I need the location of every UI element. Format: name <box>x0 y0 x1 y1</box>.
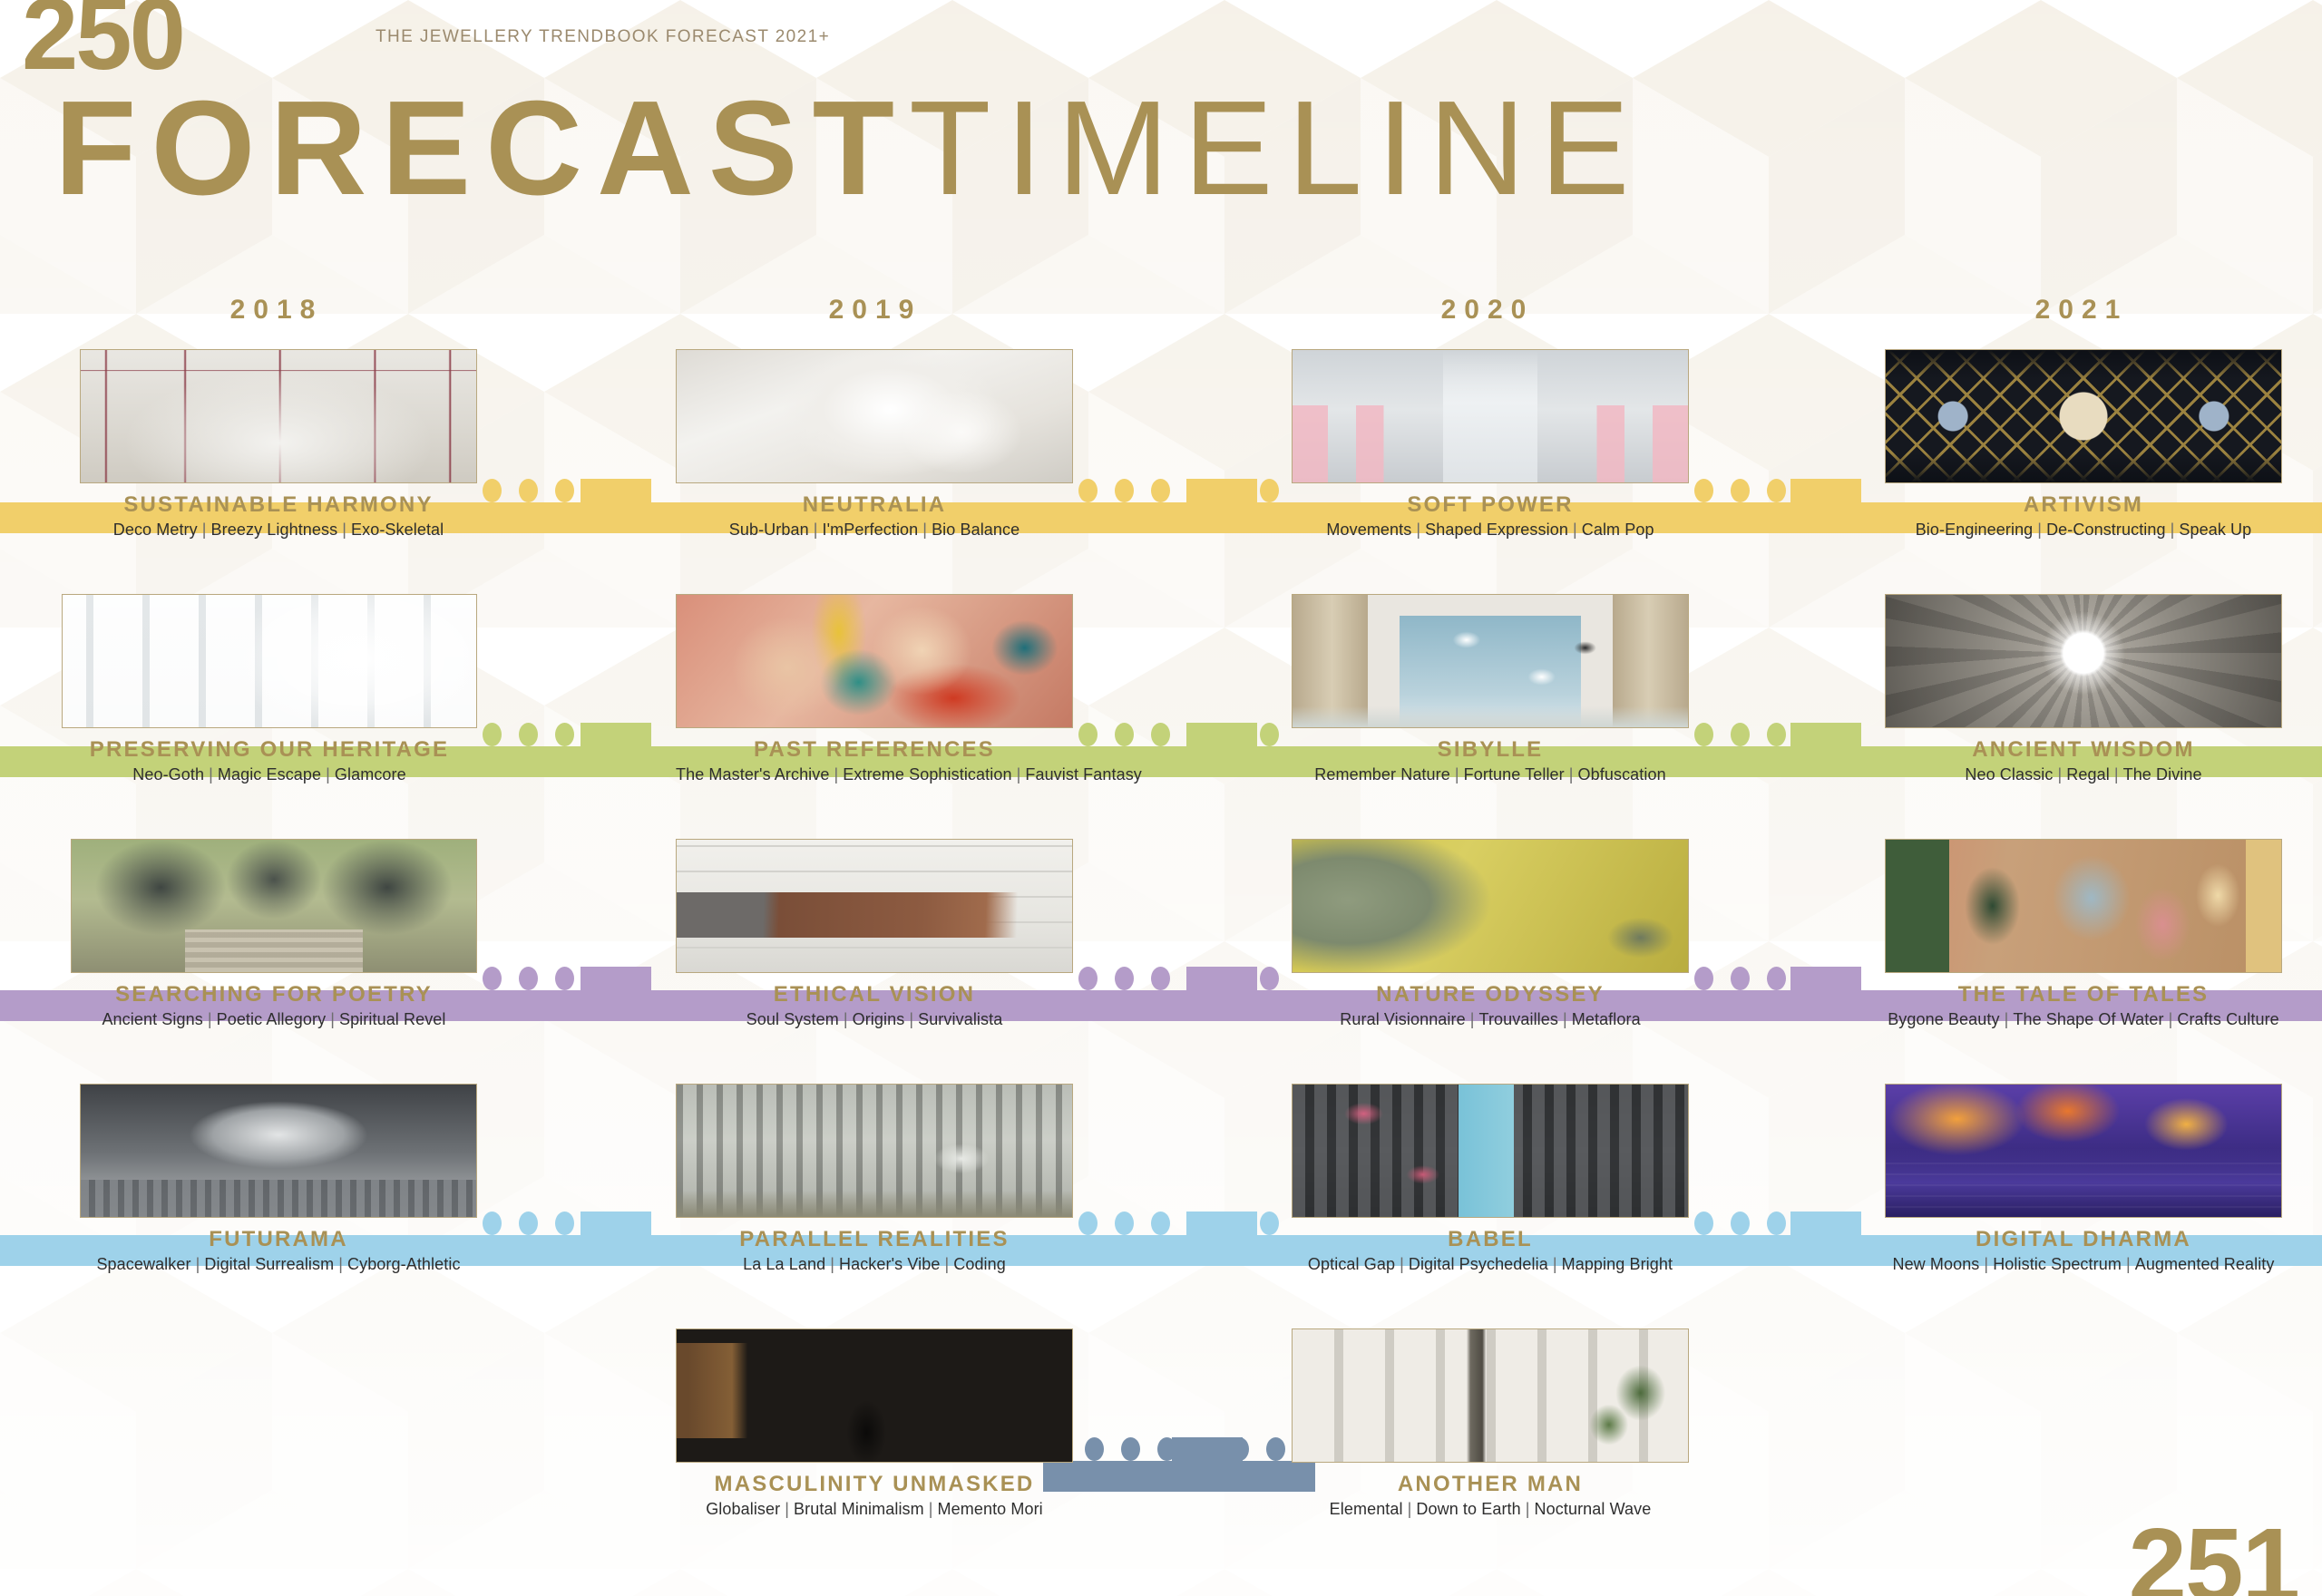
trend-keyword: The Divine <box>2123 765 2202 783</box>
timeline-dot <box>483 967 502 990</box>
page-title-bold: FORECAST <box>54 73 909 223</box>
connector-notch <box>580 479 651 502</box>
trend-keyword: The Master's Archive <box>676 765 830 783</box>
trend-title: PARALLEL REALITIES <box>676 1228 1073 1251</box>
keyword-separator: | <box>321 765 335 783</box>
trend-image-curtained-window-birds <box>1292 594 1689 728</box>
timeline-dot <box>1121 1437 1140 1461</box>
trend-title: THE TALE OF TALES <box>1885 983 2282 1006</box>
trend-keyword: Glamcore <box>335 765 406 783</box>
trend-keyword: Spiritual Revel <box>339 1010 446 1028</box>
connector-notch <box>1186 1212 1257 1235</box>
trend-keyword: The Shape Of Water <box>2013 1010 2163 1028</box>
trend-keyword: La La Land <box>743 1255 825 1273</box>
keyword-separator: | <box>2000 1010 2014 1028</box>
keyword-separator: | <box>940 1255 953 1273</box>
trend-keywords: Movements|Shaped Expression|Calm Pop <box>1292 521 1689 540</box>
trend-keyword: Calm Pop <box>1582 521 1654 539</box>
timeline-dot <box>1731 723 1750 746</box>
trend-title: BABEL <box>1292 1228 1689 1251</box>
connector-notch <box>1186 967 1257 990</box>
keyword-separator: | <box>1466 1010 1479 1028</box>
connector-notch <box>580 723 651 746</box>
trend-keyword: Mapping Bright <box>1562 1255 1673 1273</box>
trend-image-concrete-columns-with-plants <box>1292 1328 1689 1463</box>
keyword-separator: | <box>1012 765 1026 783</box>
trend-keyword: De-Constructing <box>2046 521 2166 539</box>
trend-card[interactable]: ARTIVISMBio-Engineering|De-Constructing|… <box>1885 349 2282 540</box>
trend-keyword: Elemental <box>1330 1500 1403 1518</box>
year-label-2021: 2021 <box>1946 295 2218 326</box>
timeline-dot <box>1694 967 1713 990</box>
keyword-separator: | <box>1450 765 1464 783</box>
trend-keyword: Ancient Signs <box>102 1010 202 1028</box>
trend-title: ARTIVISM <box>1885 493 2282 516</box>
trend-keyword: Trouvailles <box>1479 1010 1558 1028</box>
trend-keyword: Optical Gap <box>1308 1255 1395 1273</box>
keyword-separator: | <box>839 1010 853 1028</box>
trend-keyword: Memento Mori <box>938 1500 1043 1518</box>
trend-keyword: I'mPerfection <box>823 521 919 539</box>
trend-keyword: Down to Earth <box>1416 1500 1520 1518</box>
timeline-dot <box>555 1212 574 1235</box>
trend-keyword: Origins <box>853 1010 905 1028</box>
timeline-dot <box>1078 1212 1098 1235</box>
connector-dots-row-slate <box>0 1437 2322 1461</box>
page-header: 250 THE JEWELLERY TRENDBOOK FORECAST 202… <box>0 0 2322 272</box>
keyword-separator: | <box>204 765 218 783</box>
trend-keyword: Magic Escape <box>218 765 321 783</box>
keyword-separator: | <box>1568 521 1582 539</box>
connector-notch <box>1172 1437 1243 1461</box>
trend-image-bw-spacecraft-over-city <box>80 1084 477 1218</box>
trend-keywords: La La Land|Hacker's Vibe|Coding <box>676 1255 1073 1274</box>
trend-keyword: Globaliser <box>706 1500 780 1518</box>
trend-keywords: New Moons|Holistic Spectrum|Augmented Re… <box>1885 1255 2282 1274</box>
timeline-dot <box>1078 723 1098 746</box>
trend-title: SIBYLLE <box>1292 738 1689 761</box>
year-axis: 2018201920202021 <box>0 295 2322 338</box>
keyword-separator: | <box>1411 521 1425 539</box>
trend-card[interactable]: PARALLEL REALITIESLa La Land|Hacker's Vi… <box>676 1084 1073 1274</box>
trend-card[interactable]: FUTURAMASpacewalker|Digital Surrealism|C… <box>80 1084 477 1274</box>
trend-card[interactable]: SUSTAINABLE HARMONYDeco Metry|Breezy Lig… <box>80 349 477 540</box>
trend-card[interactable]: SEARCHING FOR POETRYAncient Signs|Poetic… <box>71 839 477 1029</box>
timeline-dot <box>519 723 538 746</box>
trend-keyword: Spacewalker <box>96 1255 190 1273</box>
trend-card[interactable]: PRESERVING OUR HERITAGENeo-Goth|Magic Es… <box>62 594 477 784</box>
keyword-separator: | <box>904 1010 918 1028</box>
trend-keyword: Brutal Minimalism <box>794 1500 924 1518</box>
trend-image-man-viewing-gallery-paintings <box>676 1328 1073 1463</box>
keyword-separator: | <box>2110 765 2123 783</box>
keyword-separator: | <box>830 765 844 783</box>
keyword-separator: | <box>2033 521 2046 539</box>
trend-keyword: Soul System <box>746 1010 839 1028</box>
timeline-dot <box>483 723 502 746</box>
trend-title: NATURE ODYSSEY <box>1292 983 1689 1006</box>
timeline-dot <box>1151 967 1170 990</box>
trend-keyword: Bygone Beauty <box>1888 1010 1999 1028</box>
trend-title: PRESERVING OUR HERITAGE <box>62 738 477 761</box>
year-label-2020: 2020 <box>1351 295 1624 326</box>
page-number-top: 250 <box>22 0 183 85</box>
trend-image-organic-arch-structures-stairs <box>71 839 477 973</box>
timeline-dot <box>555 967 574 990</box>
keyword-separator: | <box>1395 1255 1409 1273</box>
trend-keyword: Obfuscation <box>1578 765 1666 783</box>
trend-keywords: Spacewalker|Digital Surrealism|Cyborg-At… <box>80 1255 477 1274</box>
trend-keyword: Hacker's Vibe <box>839 1255 940 1273</box>
trend-title: SUSTAINABLE HARMONY <box>80 493 477 516</box>
trend-keyword: Fauvist Fantasy <box>1025 765 1142 783</box>
trend-title: MASCULINITY UNMASKED <box>676 1473 1073 1495</box>
trend-title: NEUTRALIA <box>676 493 1073 516</box>
connector-bar-row-slate <box>1043 1461 1315 1492</box>
keyword-separator: | <box>2054 765 2067 783</box>
trend-title: ETHICAL VISION <box>676 983 1073 1006</box>
timeline-dot <box>1731 967 1750 990</box>
trend-keyword: Augmented Reality <box>2135 1255 2275 1273</box>
timeline-dot <box>1731 479 1750 502</box>
timeline-dot <box>1260 1212 1279 1235</box>
trend-keywords: Optical Gap|Digital Psychedelia|Mapping … <box>1292 1255 1689 1274</box>
timeline-dot <box>1260 479 1279 502</box>
trend-keyword: Fortune Teller <box>1464 765 1565 783</box>
trend-keywords: Soul System|Origins|Survivalista <box>676 1010 1073 1029</box>
connector-notch <box>1790 723 1861 746</box>
trend-keyword: Poetic Allegory <box>217 1010 327 1028</box>
timeline-dot <box>1115 1212 1134 1235</box>
timeline-dot <box>519 479 538 502</box>
timeline-dot <box>519 967 538 990</box>
timeline-dot <box>1694 723 1713 746</box>
connector-notch <box>1790 1212 1861 1235</box>
kicker-text: THE JEWELLERY TRENDBOOK FORECAST 2021+ <box>376 27 830 47</box>
trend-keyword: Neo Classic <box>1965 765 2053 783</box>
trend-card[interactable]: NATURE ODYSSEYRural Visionnaire|Trouvail… <box>1292 839 1689 1029</box>
keyword-separator: | <box>924 1500 938 1518</box>
trend-keyword: Survivalista <box>918 1010 1002 1028</box>
timeline-dot <box>1115 967 1134 990</box>
timeline-dot <box>1151 1212 1170 1235</box>
connector-notch <box>580 967 651 990</box>
timeline-dot <box>1078 479 1098 502</box>
keyword-separator: | <box>1979 1255 1993 1273</box>
trend-keyword: Sub-Urban <box>729 521 809 539</box>
trend-image-pantheon-dome-oculus <box>1885 594 2282 728</box>
trend-keyword: Bio Balance <box>932 521 1020 539</box>
trend-keywords: Bio-Engineering|De-Constructing|Speak Up <box>1885 521 2282 540</box>
timeline-dot <box>1767 723 1786 746</box>
trend-title: SEARCHING FOR POETRY <box>71 983 477 1006</box>
trend-image-ornate-dark-gold-ceiling <box>1885 349 2282 483</box>
connector-notch <box>1790 967 1861 990</box>
timeline-dot <box>1767 1212 1786 1235</box>
timeline-dot <box>483 1212 502 1235</box>
forecast-timeline-page: 250 THE JEWELLERY TRENDBOOK FORECAST 202… <box>0 0 2322 1596</box>
connector-notch <box>1186 723 1257 746</box>
trend-image-aerial-yellow-green-lagoon <box>1292 839 1689 973</box>
trend-card[interactable]: ANCIENT WISDOMNeo Classic|Regal|The Divi… <box>1885 594 2282 784</box>
page-number-bottom: 251 <box>2128 1513 2298 1596</box>
trend-card[interactable]: ETHICAL VISIONSoul System|Origins|Surviv… <box>676 839 1073 1029</box>
keyword-separator: | <box>198 521 211 539</box>
timeline-dot <box>483 479 502 502</box>
trend-card[interactable]: MASCULINITY UNMASKEDGlobaliser|Brutal Mi… <box>676 1328 1073 1519</box>
page-title-thin: TIMELINE <box>909 73 1644 223</box>
keyword-separator: | <box>1521 1500 1535 1518</box>
timeline-dot <box>1767 479 1786 502</box>
trend-keyword: Digital Surrealism <box>204 1255 334 1273</box>
timeline-dot <box>1731 1212 1750 1235</box>
trend-keywords: Neo Classic|Regal|The Divine <box>1885 765 2282 784</box>
timeline-dot <box>555 479 574 502</box>
trend-image-pink-train-carriage-interior <box>1292 349 1689 483</box>
year-label-2018: 2018 <box>141 295 413 326</box>
trend-keyword: Speak Up <box>2179 521 2251 539</box>
trend-keywords: Elemental|Down to Earth|Nocturnal Wave <box>1292 1500 1689 1519</box>
trend-keyword: Crafts Culture <box>2177 1010 2278 1028</box>
trend-card[interactable]: DIGITAL DHARMANew Moons|Holistic Spectru… <box>1885 1084 2282 1274</box>
connector-notch <box>1790 479 1861 502</box>
trend-keywords: Rural Visionnaire|Trouvailles|Metaflora <box>1292 1010 1689 1029</box>
trend-keyword: Breezy Lightness <box>211 521 338 539</box>
keyword-separator: | <box>203 1010 217 1028</box>
year-label-2019: 2019 <box>739 295 1011 326</box>
timeline-dot <box>1260 723 1279 746</box>
keyword-separator: | <box>2166 521 2180 539</box>
trend-keywords: The Master's Archive|Extreme Sophisticat… <box>676 765 1073 784</box>
keyword-separator: | <box>918 521 932 539</box>
trend-keyword: Movements <box>1326 521 1411 539</box>
trend-keyword: Shaped Expression <box>1425 521 1568 539</box>
keyword-separator: | <box>1558 1010 1572 1028</box>
timeline-dot <box>555 723 574 746</box>
keyword-separator: | <box>337 521 351 539</box>
timeline-dot <box>1115 723 1134 746</box>
trend-title: ANCIENT WISDOM <box>1885 738 2282 761</box>
trend-title: ANOTHER MAN <box>1292 1473 1689 1495</box>
trend-keyword: Digital Psychedelia <box>1409 1255 1548 1273</box>
trend-keyword: Bio-Engineering <box>1916 521 2034 539</box>
trend-keyword: Cyborg-Athletic <box>347 1255 461 1273</box>
trend-keyword: Rural Visionnaire <box>1340 1010 1465 1028</box>
keyword-separator: | <box>1548 1255 1562 1273</box>
trend-image-baroque-painting-figures <box>676 594 1073 728</box>
trend-title: PAST REFERENCES <box>676 738 1073 761</box>
keyword-separator: | <box>825 1255 839 1273</box>
timeline-dot <box>519 1212 538 1235</box>
keyword-separator: | <box>809 521 823 539</box>
trend-keyword: Metaflora <box>1572 1010 1641 1028</box>
keyword-separator: | <box>2122 1255 2135 1273</box>
trend-card[interactable]: NEUTRALIASub-Urban|I'mPerfection|Bio Bal… <box>676 349 1073 540</box>
trend-image-interior-pavilion-glass-room <box>80 349 477 483</box>
timeline-dot <box>1085 1437 1104 1461</box>
keyword-separator: | <box>334 1255 347 1273</box>
timeline-dot <box>1151 723 1170 746</box>
keyword-separator: | <box>780 1500 794 1518</box>
timeline-dot <box>1694 479 1713 502</box>
trend-card[interactable]: BABELOptical Gap|Digital Psychedelia|Map… <box>1292 1084 1689 1274</box>
trend-image-white-classical-columns <box>62 594 477 728</box>
keyword-separator: | <box>2164 1010 2178 1028</box>
page-title: FORECASTTIMELINE <box>54 82 1644 216</box>
trend-keywords: Deco Metry|Breezy Lightness|Exo-Skeletal <box>80 521 477 540</box>
connector-notch <box>580 1212 651 1235</box>
timeline-dot <box>1260 967 1279 990</box>
trend-keywords: Ancient Signs|Poetic Allegory|Spiritual … <box>71 1010 477 1029</box>
trend-keyword: Coding <box>953 1255 1006 1273</box>
trend-image-white-soft-fabric-fold <box>676 349 1073 483</box>
trend-image-outstretched-tattooed-arm <box>676 839 1073 973</box>
keyword-separator: | <box>326 1010 339 1028</box>
trend-keywords: Remember Nature|Fortune Teller|Obfuscati… <box>1292 765 1689 784</box>
trend-keyword: Nocturnal Wave <box>1535 1500 1652 1518</box>
timeline-dot <box>1694 1212 1713 1235</box>
trend-keyword: Holistic Spectrum <box>1993 1255 2122 1273</box>
timeline-dot <box>1078 967 1098 990</box>
trend-keywords: Sub-Urban|I'mPerfection|Bio Balance <box>676 521 1073 540</box>
trend-title: SOFT POWER <box>1292 493 1689 516</box>
connector-notch <box>1186 479 1257 502</box>
trend-keywords: Neo-Goth|Magic Escape|Glamcore <box>62 765 477 784</box>
trend-title: DIGITAL DHARMA <box>1885 1228 2282 1251</box>
keyword-separator: | <box>1403 1500 1417 1518</box>
trend-keywords: Globaliser|Brutal Minimalism|Memento Mor… <box>676 1500 1073 1519</box>
trend-keyword: Neo-Goth <box>132 765 204 783</box>
trend-card[interactable]: ANOTHER MANElemental|Down to Earth|Noctu… <box>1292 1328 1689 1519</box>
timeline-dot <box>1767 967 1786 990</box>
trend-keyword: Regal <box>2066 765 2110 783</box>
timeline-dot <box>1266 1437 1285 1461</box>
trend-keywords: Bygone Beauty|The Shape Of Water|Crafts … <box>1885 1010 2282 1029</box>
trend-card[interactable]: SIBYLLERemember Nature|Fortune Teller|Ob… <box>1292 594 1689 784</box>
trend-title: FUTURAMA <box>80 1228 477 1251</box>
trend-card[interactable]: PAST REFERENCESThe Master's Archive|Extr… <box>676 594 1073 784</box>
trend-keyword: Exo-Skeletal <box>351 521 444 539</box>
trend-keyword: Remember Nature <box>1314 765 1450 783</box>
trend-image-blurred-motion-street <box>676 1084 1073 1218</box>
trend-card[interactable]: THE TALE OF TALESBygone Beauty|The Shape… <box>1885 839 2282 1029</box>
trend-image-aerial-city-blocks-river <box>1292 1084 1689 1218</box>
timeline-dot <box>1115 479 1134 502</box>
trend-keyword: New Moons <box>1892 1255 1979 1273</box>
keyword-separator: | <box>191 1255 205 1273</box>
trend-image-orientalist-tapestry-interior <box>1885 839 2282 973</box>
trend-keyword: Extreme Sophistication <box>843 765 1011 783</box>
trend-keyword: Deco Metry <box>113 521 198 539</box>
keyword-separator: | <box>1565 765 1578 783</box>
trend-image-neon-purple-orange-landscape <box>1885 1084 2282 1218</box>
trend-card[interactable]: SOFT POWERMovements|Shaped Expression|Ca… <box>1292 349 1689 540</box>
timeline-dot <box>1151 479 1170 502</box>
